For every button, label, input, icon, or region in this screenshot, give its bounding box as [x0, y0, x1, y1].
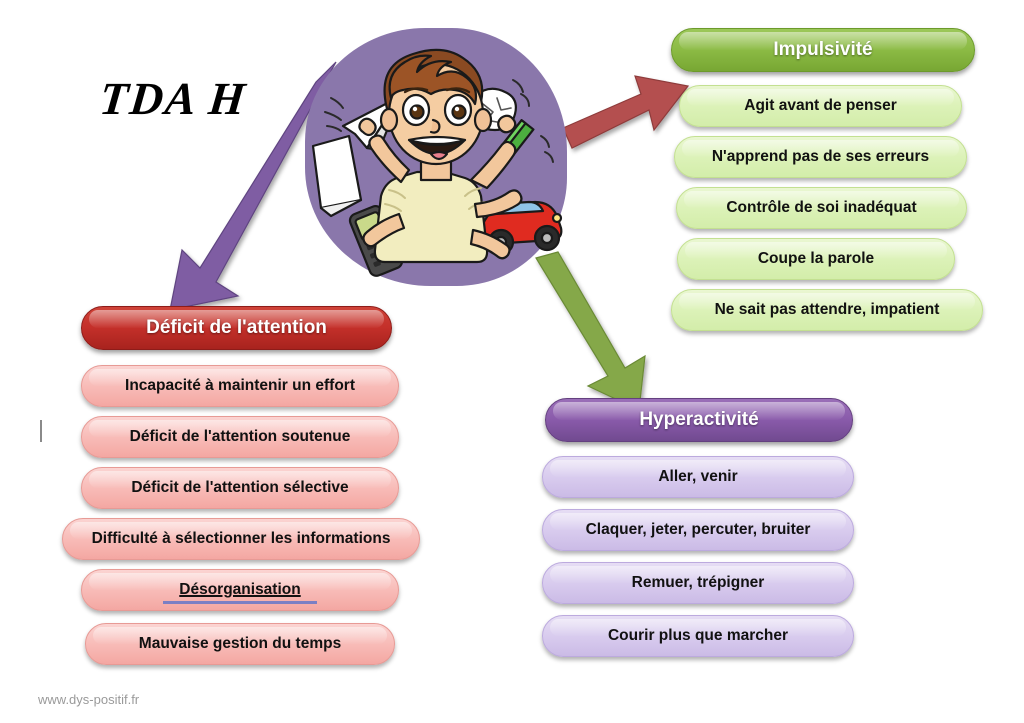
list-item[interactable]: Remuer, trépigner — [542, 562, 854, 604]
list-item-label: Contrôle de soi inadéquat — [710, 199, 932, 217]
list-item-label: Déficit de l'attention soutenue — [114, 428, 367, 446]
list-item-label: Déficit de l'attention sélective — [115, 479, 364, 497]
list-item[interactable]: Contrôle de soi inadéquat — [676, 187, 967, 229]
list-item[interactable]: Claquer, jeter, percuter, bruiter — [542, 509, 854, 551]
branch-header-impulsivity[interactable]: Impulsivité — [671, 28, 975, 72]
list-item[interactable]: Déficit de l'attention sélective — [81, 467, 399, 509]
list-item-label: Mauvaise gestion du temps — [123, 635, 357, 653]
illustration-art — [305, 28, 567, 286]
branch-header-label: Hyperactivité — [623, 409, 774, 431]
list-item[interactable]: Déficit de l'attention soutenue — [81, 416, 399, 458]
infographic-canvas: TDA H — [0, 0, 1024, 723]
branch-impulsivity: Impulsivité Agit avant de penser N'appre… — [662, 28, 992, 331]
footer-watermark: www.dys-positif.fr — [38, 692, 139, 707]
list-item-label: N'apprend pas de ses erreurs — [696, 148, 945, 166]
branch-attention: Déficit de l'attention Incapacité à main… — [70, 306, 430, 665]
text-cursor-artifact — [40, 420, 42, 442]
list-item-label: Aller, venir — [642, 468, 753, 486]
list-item-label: Ne sait pas attendre, impatient — [699, 301, 956, 319]
branch-header-label: Impulsivité — [757, 39, 888, 61]
list-item[interactable]: Agit avant de penser — [679, 85, 962, 127]
page-title: TDA H — [97, 72, 249, 125]
list-item[interactable]: N'apprend pas de ses erreurs — [674, 136, 967, 178]
child-with-many-arms-illustration — [305, 28, 567, 286]
list-item-label: Claquer, jeter, percuter, bruiter — [570, 521, 827, 539]
list-item[interactable]: Difficulté à sélectionner les informatio… — [62, 518, 420, 560]
list-item[interactable]: Mauvaise gestion du temps — [85, 623, 395, 665]
list-item-label: Coupe la parole — [742, 250, 890, 268]
list-item[interactable]: Désorganisation — [81, 569, 399, 611]
list-item[interactable]: Coupe la parole — [677, 238, 955, 280]
list-item-label: Difficulté à sélectionner les informatio… — [76, 530, 407, 548]
branch-hyperactivity: Hyperactivité Aller, venir Claquer, jete… — [536, 398, 866, 657]
list-item-label: Agit avant de penser — [728, 97, 912, 115]
list-item-link[interactable]: Désorganisation — [163, 581, 316, 599]
list-item-label: Remuer, trépigner — [616, 574, 781, 592]
branch-header-attention[interactable]: Déficit de l'attention — [81, 306, 392, 350]
list-item-label: Courir plus que marcher — [592, 627, 804, 645]
list-item[interactable]: Aller, venir — [542, 456, 854, 498]
list-item[interactable]: Courir plus que marcher — [542, 615, 854, 657]
branch-header-label: Déficit de l'attention — [130, 317, 343, 339]
list-item[interactable]: Ne sait pas attendre, impatient — [671, 289, 983, 331]
branch-header-hyperactivity[interactable]: Hyperactivité — [545, 398, 853, 442]
list-item[interactable]: Incapacité à maintenir un effort — [81, 365, 399, 407]
list-item-label: Incapacité à maintenir un effort — [109, 377, 371, 395]
